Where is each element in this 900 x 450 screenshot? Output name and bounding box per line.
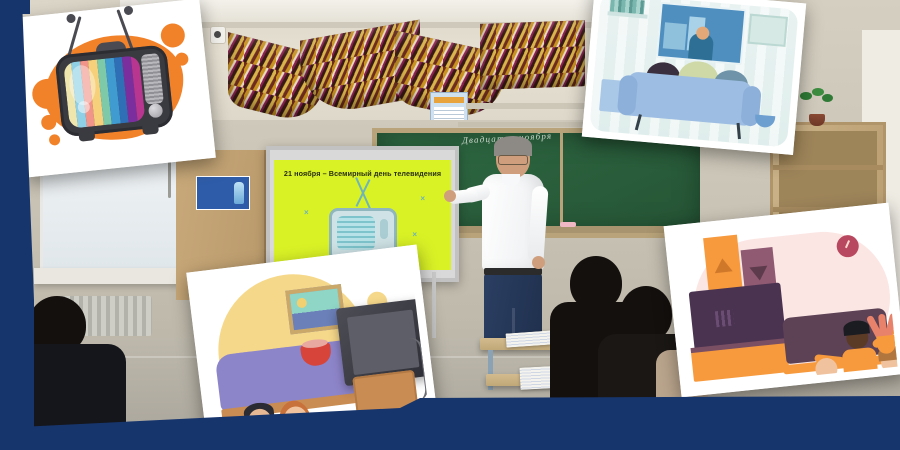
tv-antenna-tip — [124, 6, 134, 16]
collage-card-retro-tv[interactable] — [10, 0, 216, 177]
wall-picture-frame — [748, 14, 788, 47]
slide-title: 21 ноября – Всемирный день телевидения — [284, 169, 441, 178]
wall-art-orange — [703, 235, 742, 292]
potted-plant — [750, 96, 781, 128]
tv-stand — [691, 342, 790, 382]
collage-card-friends-tv[interactable] — [664, 203, 900, 398]
sparkle-icon: × — [412, 230, 417, 239]
navy-corner — [0, 0, 30, 14]
orange-dot — [160, 22, 186, 48]
retro-tv-icon — [54, 44, 174, 137]
sparkle-icon: × — [420, 194, 425, 203]
teacher-hand — [444, 190, 456, 202]
uzbek-ikat-panel — [480, 20, 585, 90]
blue-information-poster — [196, 176, 250, 210]
sparkle-icon: × — [304, 208, 309, 217]
collage-card-family-sofa[interactable] — [582, 0, 806, 155]
tv-speaker-grille — [141, 53, 164, 105]
orange-dot — [49, 134, 61, 146]
orange-dot — [175, 52, 189, 66]
tv-knob — [148, 103, 163, 118]
wall-sensor — [210, 26, 226, 44]
collage-canvas: Двадцатое ноября — [0, 0, 900, 450]
tv-antenna-tip — [66, 14, 76, 24]
eyeglasses — [498, 155, 528, 165]
orange-dot — [41, 114, 57, 130]
teacher-hand — [532, 256, 545, 269]
potted-plant — [870, 312, 898, 354]
television-icon — [656, 2, 747, 65]
shelf-potted-plant — [800, 100, 834, 126]
